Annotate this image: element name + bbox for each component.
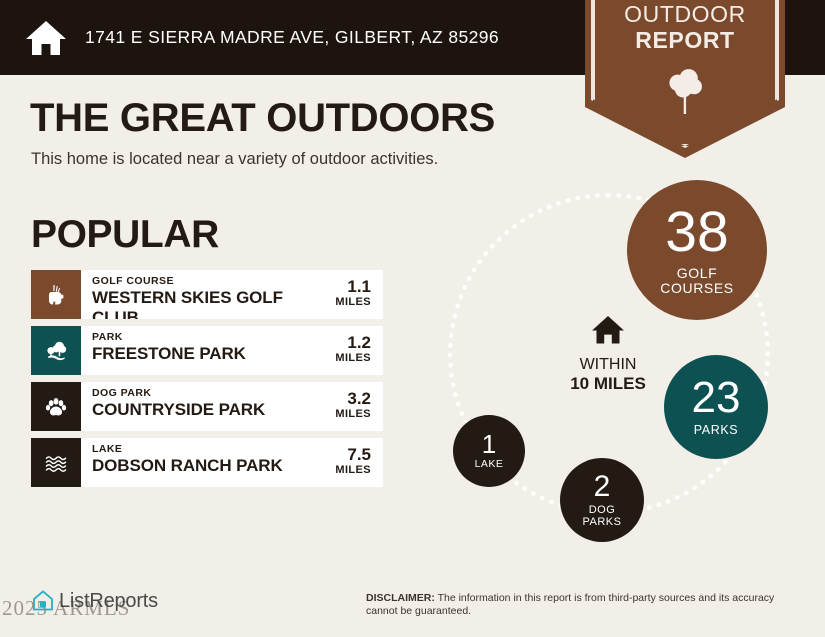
- bubble-value: 1: [482, 431, 496, 457]
- badge-title-line1: OUTDOOR: [585, 2, 785, 28]
- badge-title: OUTDOOR REPORT: [585, 2, 785, 54]
- outdoor-report-page: 1741 E SIERRA MADRE AVE, GILBERT, AZ 852…: [0, 0, 825, 637]
- distance-unit: MILES: [305, 408, 371, 421]
- list-item[interactable]: GOLF COURSE WESTERN SKIES GOLF CLUB 1.1 …: [31, 270, 383, 319]
- bubble-label-line2: PARKS: [583, 517, 622, 529]
- listreports-logo[interactable]: ListReports: [30, 588, 158, 614]
- distance-unit: MILES: [305, 464, 371, 477]
- popular-heading: POPULAR: [31, 213, 219, 257]
- bubble-label: GOLF COURSES: [660, 266, 733, 296]
- list-item-text: LAKE DOBSON RANCH PARK: [81, 438, 305, 487]
- distance-value: 7.5: [305, 445, 371, 464]
- bubble-dog-parks: 2 DOG PARKS: [560, 458, 644, 542]
- distance-value: 1.2: [305, 333, 371, 352]
- list-item-text: PARK FREESTONE PARK: [81, 326, 305, 375]
- list-item-distance: 3.2 MILES: [305, 382, 383, 431]
- list-item[interactable]: DOG PARK COUNTRYSIDE PARK 3.2 MILES: [31, 382, 383, 431]
- bubble-label-line2: COURSES: [660, 281, 733, 296]
- list-item-text: GOLF COURSE WESTERN SKIES GOLF CLUB: [81, 270, 305, 319]
- home-icon: [538, 315, 678, 350]
- list-item-category: LAKE: [92, 443, 305, 456]
- popular-list: GOLF COURSE WESTERN SKIES GOLF CLUB 1.1 …: [31, 270, 383, 494]
- list-item[interactable]: PARK FREESTONE PARK 1.2 MILES: [31, 326, 383, 375]
- list-item-category: DOG PARK: [92, 387, 305, 400]
- bubble-golf-courses: 38 GOLF COURSES: [627, 180, 767, 320]
- disclaimer-label: DISCLAIMER:: [366, 592, 435, 604]
- distance-unit: MILES: [305, 352, 371, 365]
- bubble-label-line1: GOLF: [660, 266, 733, 281]
- within-label-line2: 10 MILES: [538, 374, 678, 393]
- outdoor-report-badge: OUTDOOR REPORT: [585, 0, 785, 158]
- list-item-name: DOBSON RANCH PARK: [92, 456, 305, 476]
- trees-icon: [31, 326, 81, 375]
- list-item-distance: 1.1 MILES: [305, 270, 383, 319]
- paw-icon: [31, 382, 81, 431]
- bubble-value: 23: [692, 376, 741, 420]
- bubble-parks: 23 PARKS: [664, 355, 768, 459]
- disclaimer: DISCLAIMER: The information in this repo…: [366, 592, 791, 618]
- list-item-category: GOLF COURSE: [92, 275, 305, 288]
- list-item-distance: 1.2 MILES: [305, 326, 383, 375]
- golf-bag-icon: [31, 270, 81, 319]
- bubble-lake: 1 LAKE: [453, 415, 525, 487]
- list-item[interactable]: LAKE DOBSON RANCH PARK 7.5 MILES: [31, 438, 383, 487]
- listreports-wordmark: ListReports: [59, 590, 158, 613]
- list-item-distance: 7.5 MILES: [305, 438, 383, 487]
- bubble-label: LAKE: [475, 459, 504, 470]
- list-item-text: DOG PARK COUNTRYSIDE PARK: [81, 382, 305, 431]
- amenities-bubble-chart: 38 GOLF COURSES 23 PARKS 2 DOG PARKS 1 L…: [418, 175, 818, 565]
- bubble-value: 2: [594, 472, 611, 502]
- list-item-name: WESTERN SKIES GOLF CLUB: [92, 288, 305, 319]
- distance-value: 3.2: [305, 389, 371, 408]
- within-label-line1: WITHIN: [538, 356, 678, 374]
- page-subtitle: This home is located near a variety of o…: [31, 150, 438, 169]
- page-title: THE GREAT OUTDOORS: [30, 96, 495, 141]
- home-icon: [25, 19, 67, 57]
- tree-icon: [585, 66, 785, 123]
- within-radius-center: WITHIN 10 MILES: [538, 315, 678, 393]
- listreports-house-icon: [30, 588, 56, 614]
- bubble-label-line1: DOG: [583, 505, 622, 517]
- list-item-name: FREESTONE PARK: [92, 344, 305, 364]
- bubble-label: PARKS: [694, 424, 738, 438]
- list-item-name: COUNTRYSIDE PARK: [92, 400, 305, 420]
- property-address: 1741 E SIERRA MADRE AVE, GILBERT, AZ 852…: [85, 27, 499, 48]
- waves-icon: [31, 438, 81, 487]
- bubble-value: 38: [665, 204, 728, 261]
- distance-unit: MILES: [305, 296, 371, 309]
- list-item-category: PARK: [92, 331, 305, 344]
- bubble-label: DOG PARKS: [583, 505, 622, 529]
- badge-title-line2: REPORT: [585, 28, 785, 54]
- distance-value: 1.1: [305, 277, 371, 296]
